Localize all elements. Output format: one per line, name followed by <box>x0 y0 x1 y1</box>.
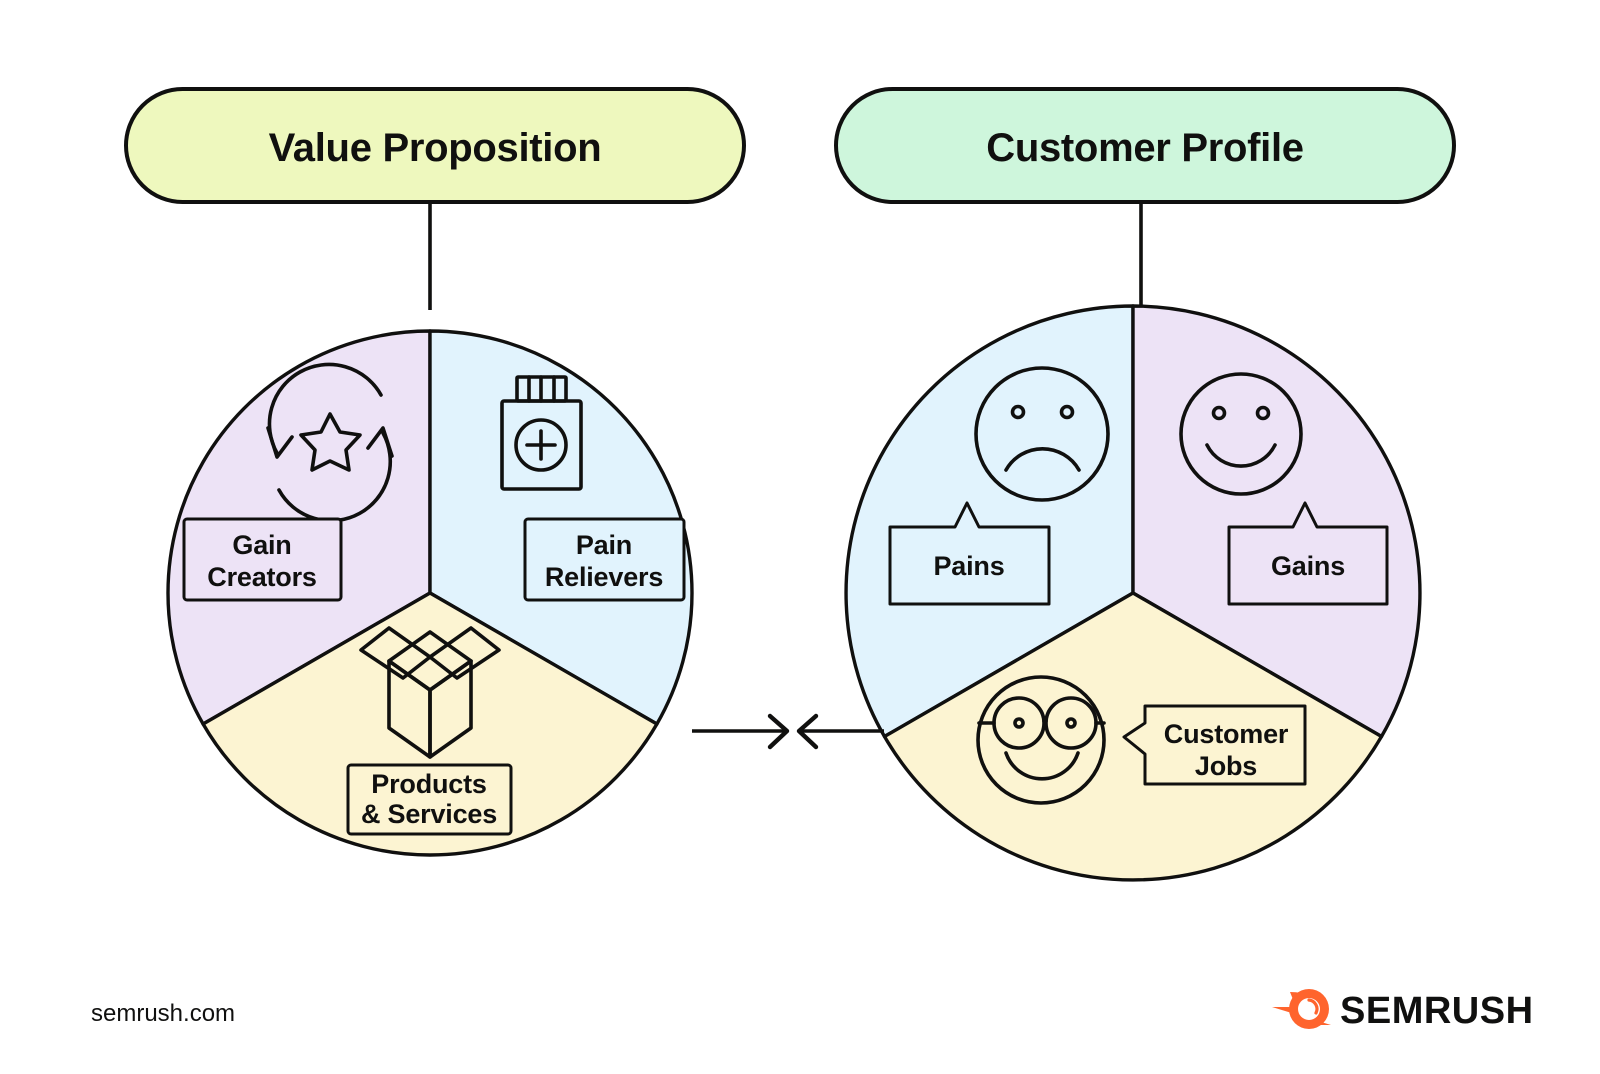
left-header-pill[interactable]: Value Proposition <box>126 89 744 202</box>
pain-relievers-label-line-1: Pain <box>576 530 632 560</box>
pains-label: Pains <box>933 551 1004 581</box>
label-box-customer-jobs[interactable]: Customer Jobs <box>1124 706 1305 784</box>
label-box-products-services[interactable]: Products & Services <box>348 765 511 834</box>
left-header-title: Value Proposition <box>269 126 602 170</box>
value-proposition-canvas-diagram: Gain Creators Pain Relievers Products & … <box>0 0 1600 1074</box>
pain-relievers-label-line-2: Relievers <box>545 562 663 592</box>
customer-jobs-label-line-2: Jobs <box>1195 751 1257 781</box>
gain-creators-label-line-1: Gain <box>232 530 291 560</box>
fit-arrow-connector <box>692 716 884 747</box>
products-services-label-line-2: & Services <box>361 799 497 829</box>
left-circle-group: Gain Creators Pain Relievers Products & … <box>168 331 692 855</box>
semrush-logo[interactable]: SEMRUSH <box>1272 989 1534 1032</box>
gains-label: Gains <box>1271 551 1345 581</box>
products-services-label-line-1: Products <box>371 769 486 799</box>
customer-jobs-label-line-1: Customer <box>1164 719 1289 749</box>
footer-url[interactable]: semrush.com <box>91 1000 235 1027</box>
right-header-pill[interactable]: Customer Profile <box>836 89 1454 202</box>
right-header-title: Customer Profile <box>986 126 1304 170</box>
label-box-gain-creators[interactable]: Gain Creators <box>184 519 341 600</box>
gain-creators-label-line-2: Creators <box>207 562 316 592</box>
diagram-canvas: Gain Creators Pain Relievers Products & … <box>0 0 1600 1074</box>
label-box-pain-relievers[interactable]: Pain Relievers <box>525 519 684 600</box>
semrush-comet-icon <box>1272 989 1331 1029</box>
right-circle-group: Pains Gains Customer Jobs <box>846 306 1420 880</box>
semrush-wordmark: SEMRUSH <box>1340 990 1534 1032</box>
